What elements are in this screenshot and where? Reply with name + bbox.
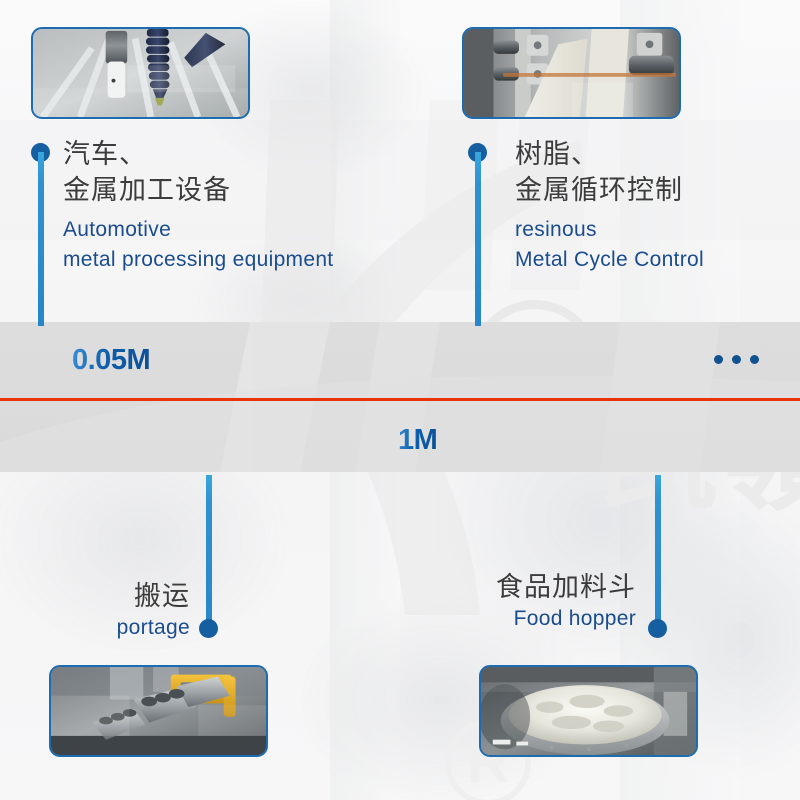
connector-line-bottom-right xyxy=(655,475,661,629)
scale-min-value: 0.05M xyxy=(72,344,150,377)
connector-dot-bottom-left xyxy=(199,619,218,638)
callout-bl-en-line1: portage xyxy=(10,613,190,643)
callout-tl-en-line1: Automotive xyxy=(63,215,333,245)
thumbnail-engine-block-conveying[interactable] xyxy=(49,665,268,757)
connector-line-bottom-left xyxy=(206,475,212,629)
dot-3 xyxy=(750,355,759,364)
callout-bottom-right: 食品加料斗 Food hopper xyxy=(300,570,636,634)
callout-tl-en-line2: metal processing equipment xyxy=(63,245,333,275)
callout-tl-cn-line1: 汽车、 xyxy=(63,136,333,172)
thumbnail-resin-metal-cycle-control[interactable] xyxy=(462,27,681,119)
scale-center-red-line xyxy=(0,398,800,401)
dot-2 xyxy=(732,355,741,364)
callout-br-en-line1: Food hopper xyxy=(300,604,636,634)
infographic-canvas: 凯嶺嘉 0.05M 1M xyxy=(0,0,800,800)
thumbnail-food-hopper[interactable] xyxy=(479,665,698,757)
callout-tr-cn-line1: 树脂、 xyxy=(515,136,704,172)
scale-max-value: 1M xyxy=(398,424,437,457)
callout-tl-cn-line2: 金属加工设备 xyxy=(63,172,333,208)
callout-br-cn-line1: 食品加料斗 xyxy=(300,570,636,604)
callout-bottom-left: 搬运 portage xyxy=(10,579,190,643)
dot-1 xyxy=(714,355,723,364)
callout-bl-cn-line1: 搬运 xyxy=(10,579,190,613)
callout-tr-cn-line2: 金属循环控制 xyxy=(515,172,704,208)
callout-top-right: 树脂、 金属循环控制 resinous Metal Cycle Control xyxy=(515,136,704,275)
more-indicator-icon[interactable] xyxy=(714,355,759,364)
callout-tr-en-line2: Metal Cycle Control xyxy=(515,245,704,275)
connector-line-top-right xyxy=(475,152,481,326)
callout-top-left: 汽车、 金属加工设备 Automotive metal processing e… xyxy=(63,136,333,275)
callout-tr-en-line1: resinous xyxy=(515,215,704,245)
connector-line-top-left xyxy=(38,152,44,326)
thumbnail-automotive-metal-processing[interactable] xyxy=(31,27,250,119)
connector-dot-bottom-right xyxy=(648,619,667,638)
